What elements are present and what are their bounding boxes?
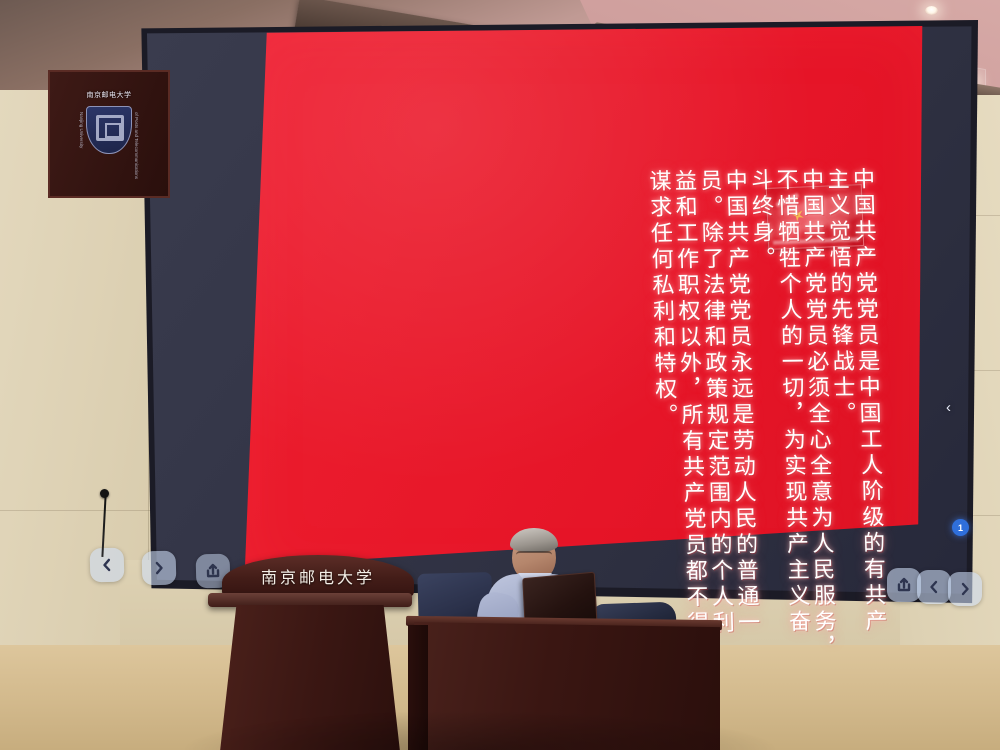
prev-button-right[interactable] <box>917 570 951 604</box>
share-icon <box>896 577 912 593</box>
slide-text-block: 中国共产党党员是中国工人阶级的有共产 主义觉悟的先锋战士。 中国共产党党员必须全… <box>312 167 881 483</box>
slide-text-column: 斗终身。 <box>747 168 772 272</box>
ceiling-spotlight <box>925 6 938 15</box>
university-crest: 南京邮电大学 Nanjing University of Posts and T… <box>80 88 138 158</box>
edge-collapse-chevron-icon[interactable]: ‹ <box>946 400 951 415</box>
next-button-left[interactable] <box>142 551 177 586</box>
next-button-right[interactable] <box>948 572 982 606</box>
page-count-badge: 1 <box>952 519 969 536</box>
speaker-hair <box>510 528 558 552</box>
chevron-left-icon <box>926 579 942 595</box>
crest-motto-right: of Posts and Telecommunications <box>134 112 139 179</box>
share-button-right[interactable] <box>887 568 921 602</box>
lecture-hall-scene: 中国共产党党员是中国工人阶级的有共产 主义觉悟的先锋战士。 中国共产党党员必须全… <box>0 0 1000 750</box>
crest-motto-left: Nanjing University <box>79 112 84 148</box>
chevron-right-icon <box>151 560 167 576</box>
prev-button-left[interactable] <box>90 548 125 583</box>
chevron-left-icon <box>99 557 115 573</box>
speaker-glasses <box>516 551 552 560</box>
crest-university-name: 南京邮电大学 <box>80 90 138 100</box>
crest-circuit-mark-icon <box>96 115 124 141</box>
floor-shadow <box>180 710 780 750</box>
crest-shield <box>86 106 132 154</box>
podium-header: 南京邮电大学 <box>222 555 414 597</box>
chevron-right-icon <box>957 581 973 597</box>
podium-lip <box>208 593 412 607</box>
podium-university-name: 南京邮电大学 <box>222 564 414 588</box>
